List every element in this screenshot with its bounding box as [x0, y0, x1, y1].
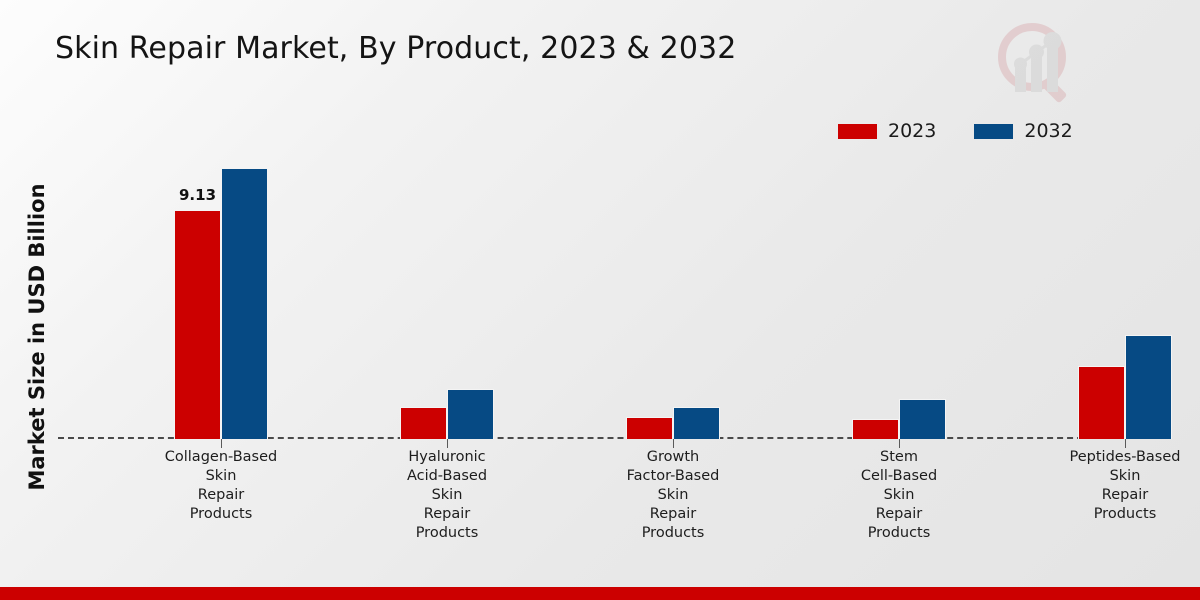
category-label-line: Peptides-Based [1015, 448, 1200, 467]
category-label-line: Repair [1015, 486, 1200, 505]
bar-2032[interactable] [221, 168, 268, 439]
axis-tick [899, 439, 900, 448]
bars [111, 150, 331, 439]
category-label-line: Repair [789, 505, 1009, 524]
magnifier-bar-chart-logo-icon [988, 14, 1084, 110]
bars [337, 150, 557, 439]
axis-tick [447, 439, 448, 448]
category-label: StemCell-BasedSkinRepairProducts [789, 448, 1009, 543]
page-title: Skin Repair Market, By Product, 2023 & 2… [55, 31, 736, 66]
bar-group [563, 150, 783, 439]
bars [789, 150, 1009, 439]
category-label-line: Skin [111, 467, 331, 486]
category-label-line: Skin [563, 486, 783, 505]
category-label-line: Products [563, 524, 783, 543]
axis-tick [221, 439, 222, 448]
category-label-line: Skin [337, 486, 557, 505]
axis-tick [1125, 439, 1126, 448]
bar-2023[interactable] [626, 417, 673, 439]
category-label-line: Factor-Based [563, 467, 783, 486]
category-label-line: Hyaluronic [337, 448, 557, 467]
bar-group [1015, 150, 1200, 439]
bar-2032[interactable] [447, 389, 494, 439]
category-label-line: Growth [563, 448, 783, 467]
bar-2023[interactable] [852, 419, 899, 439]
legend-item-2032[interactable]: 2032 [974, 120, 1072, 142]
category-label-line: Repair [111, 486, 331, 505]
y-axis-title: Market Size in USD Billion [25, 157, 49, 517]
category-label: Peptides-BasedSkinRepairProducts [1015, 448, 1200, 524]
axis-tick [673, 439, 674, 448]
category-label-line: Products [337, 524, 557, 543]
legend-label-2023: 2023 [888, 120, 936, 142]
category-label-line: Acid-Based [337, 467, 557, 486]
plot-area: 9.13 [58, 150, 1163, 439]
category-label-line: Products [111, 505, 331, 524]
bar-2032[interactable] [673, 407, 720, 439]
category-label-line: Products [1015, 505, 1200, 524]
bar-value-label: 9.13 [179, 186, 216, 204]
category-label-line: Cell-Based [789, 467, 1009, 486]
category-label-line: Skin [789, 486, 1009, 505]
legend-swatch-2023 [838, 124, 877, 139]
category-label: GrowthFactor-BasedSkinRepairProducts [563, 448, 783, 543]
bars [1015, 150, 1200, 439]
legend-swatch-2032 [974, 124, 1013, 139]
bar-group [337, 150, 557, 439]
bar-2023[interactable] [1078, 366, 1125, 439]
category-label-line: Collagen-Based [111, 448, 331, 467]
footer-bar [0, 587, 1200, 600]
category-label-line: Repair [563, 505, 783, 524]
bars [563, 150, 783, 439]
category-label: HyaluronicAcid-BasedSkinRepairProducts [337, 448, 557, 543]
bar-2032[interactable] [899, 399, 946, 439]
category-label-line: Repair [337, 505, 557, 524]
chart-page: Skin Repair Market, By Product, 2023 & 2… [0, 0, 1200, 600]
category-label-line: Products [789, 524, 1009, 543]
category-label: Collagen-BasedSkinRepairProducts [111, 448, 331, 524]
bar-2032[interactable] [1125, 335, 1172, 439]
legend-item-2023[interactable]: 2023 [838, 120, 936, 142]
chart-legend: 2023 2032 [838, 120, 1073, 142]
category-label-line: Skin [1015, 467, 1200, 486]
bar-2023[interactable] [174, 210, 221, 439]
bar-group: 9.13 [111, 150, 331, 439]
bar-2023[interactable] [400, 407, 447, 439]
bar-group [789, 150, 1009, 439]
legend-label-2032: 2032 [1024, 120, 1072, 142]
category-label-line: Stem [789, 448, 1009, 467]
